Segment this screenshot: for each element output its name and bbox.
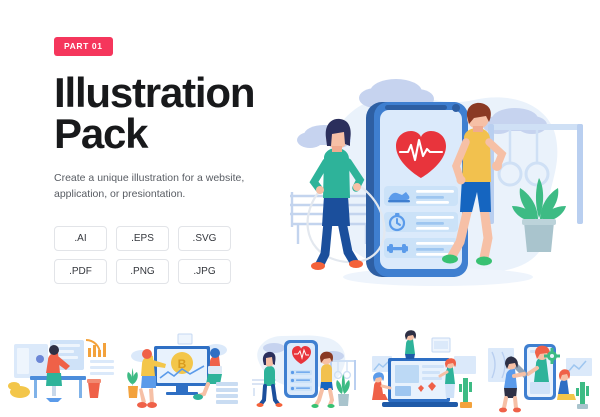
page-subtitle: Create a unique illustration for a websi… xyxy=(54,170,278,203)
thumb-fitness-app[interactable] xyxy=(240,326,360,417)
thumb-laptop-social[interactable] xyxy=(360,326,480,417)
hero-illustration xyxy=(288,72,588,310)
format-badge-pdf[interactable]: .PDF xyxy=(54,259,107,284)
format-badge-png[interactable]: .PNG xyxy=(116,259,169,284)
thumb-bitcoin-monitor[interactable]: B xyxy=(120,326,240,417)
illustration-pack-poster: PART 01 Illustration Pack Create a uniqu… xyxy=(0,0,600,417)
page-title-line-2: Pack xyxy=(54,113,294,154)
page-title: Illustration Pack xyxy=(54,72,294,154)
format-badge-list: .AI .EPS .SVG .PDF .PNG .JPG xyxy=(54,226,294,284)
laptop-person-top xyxy=(405,330,416,359)
thumb-phone-repair[interactable] xyxy=(480,326,600,417)
thumb-workspace-desk[interactable] xyxy=(0,326,120,417)
hero-text-column: PART 01 Illustration Pack Create a uniqu… xyxy=(54,36,294,284)
format-badge-eps[interactable]: .EPS xyxy=(116,226,169,251)
screen-row-stopwatch xyxy=(384,212,458,232)
support-cactus xyxy=(576,382,589,409)
part-badge: PART 01 xyxy=(54,37,113,56)
page-title-line-1: Illustration xyxy=(54,72,294,113)
laptop-person-left xyxy=(372,372,390,400)
laptop-cactus xyxy=(459,378,472,408)
screen-row-shoe xyxy=(384,186,458,206)
format-badge-ai[interactable]: .AI xyxy=(54,226,107,251)
format-badge-jpg[interactable]: .JPG xyxy=(178,259,231,284)
thumbnail-strip: B xyxy=(0,326,600,417)
format-badge-svg[interactable]: .SVG xyxy=(178,226,231,251)
